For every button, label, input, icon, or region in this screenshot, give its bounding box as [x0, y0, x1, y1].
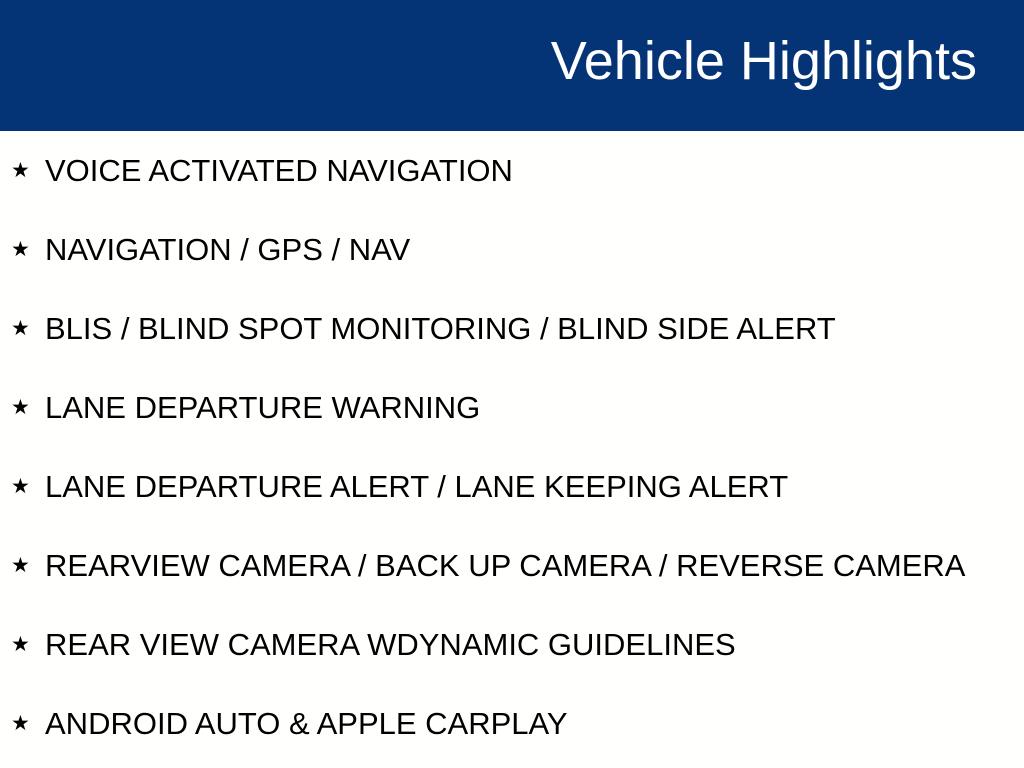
list-item-label: LANE DEPARTURE ALERT / LANE KEEPING ALER…	[45, 470, 788, 504]
list-item-label: ANDROID AUTO & APPLE CARPLAY	[45, 707, 568, 741]
list-item: ★ BLIS / BLIND SPOT MONITORING / BLIND S…	[0, 289, 1024, 368]
list-item: ★ LANE DEPARTURE ALERT / LANE KEEPING AL…	[0, 447, 1024, 526]
vehicle-highlights-list: ★ VOICE ACTIVATED NAVIGATION ★ NAVIGATIO…	[0, 131, 1024, 763]
list-item-label: VOICE ACTIVATED NAVIGATION	[45, 154, 513, 188]
list-item-label: REARVIEW CAMERA / BACK UP CAMERA / REVER…	[45, 549, 965, 583]
list-item-label: REAR VIEW CAMERA WDYNAMIC GUIDELINES	[45, 628, 736, 662]
star-bullet-icon: ★	[11, 476, 28, 497]
list-item-label: LANE DEPARTURE WARNING	[45, 391, 480, 425]
list-item: ★ VOICE ACTIVATED NAVIGATION	[0, 131, 1024, 210]
star-bullet-icon: ★	[11, 634, 28, 655]
page-title: Vehicle Highlights	[551, 26, 977, 96]
star-bullet-icon: ★	[11, 397, 28, 418]
list-item: ★ REAR VIEW CAMERA WDYNAMIC GUIDELINES	[0, 605, 1024, 684]
list-item-label: NAVIGATION / GPS / NAV	[45, 233, 410, 267]
list-item: ★ LANE DEPARTURE WARNING	[0, 368, 1024, 447]
header-band: Vehicle Highlights	[0, 0, 1024, 131]
vehicle-highlights-slide: Vehicle Highlights ★ VOICE ACTIVATED NAV…	[0, 0, 1024, 768]
star-bullet-icon: ★	[11, 160, 28, 181]
list-item: ★ NAVIGATION / GPS / NAV	[0, 210, 1024, 289]
list-item-label: BLIS / BLIND SPOT MONITORING / BLIND SID…	[45, 312, 836, 346]
list-item: ★ REARVIEW CAMERA / BACK UP CAMERA / REV…	[0, 526, 1024, 605]
star-bullet-icon: ★	[11, 555, 28, 576]
star-bullet-icon: ★	[11, 318, 28, 339]
star-bullet-icon: ★	[11, 239, 28, 260]
list-item: ★ ANDROID AUTO & APPLE CARPLAY	[0, 684, 1024, 763]
star-bullet-icon: ★	[11, 713, 28, 734]
